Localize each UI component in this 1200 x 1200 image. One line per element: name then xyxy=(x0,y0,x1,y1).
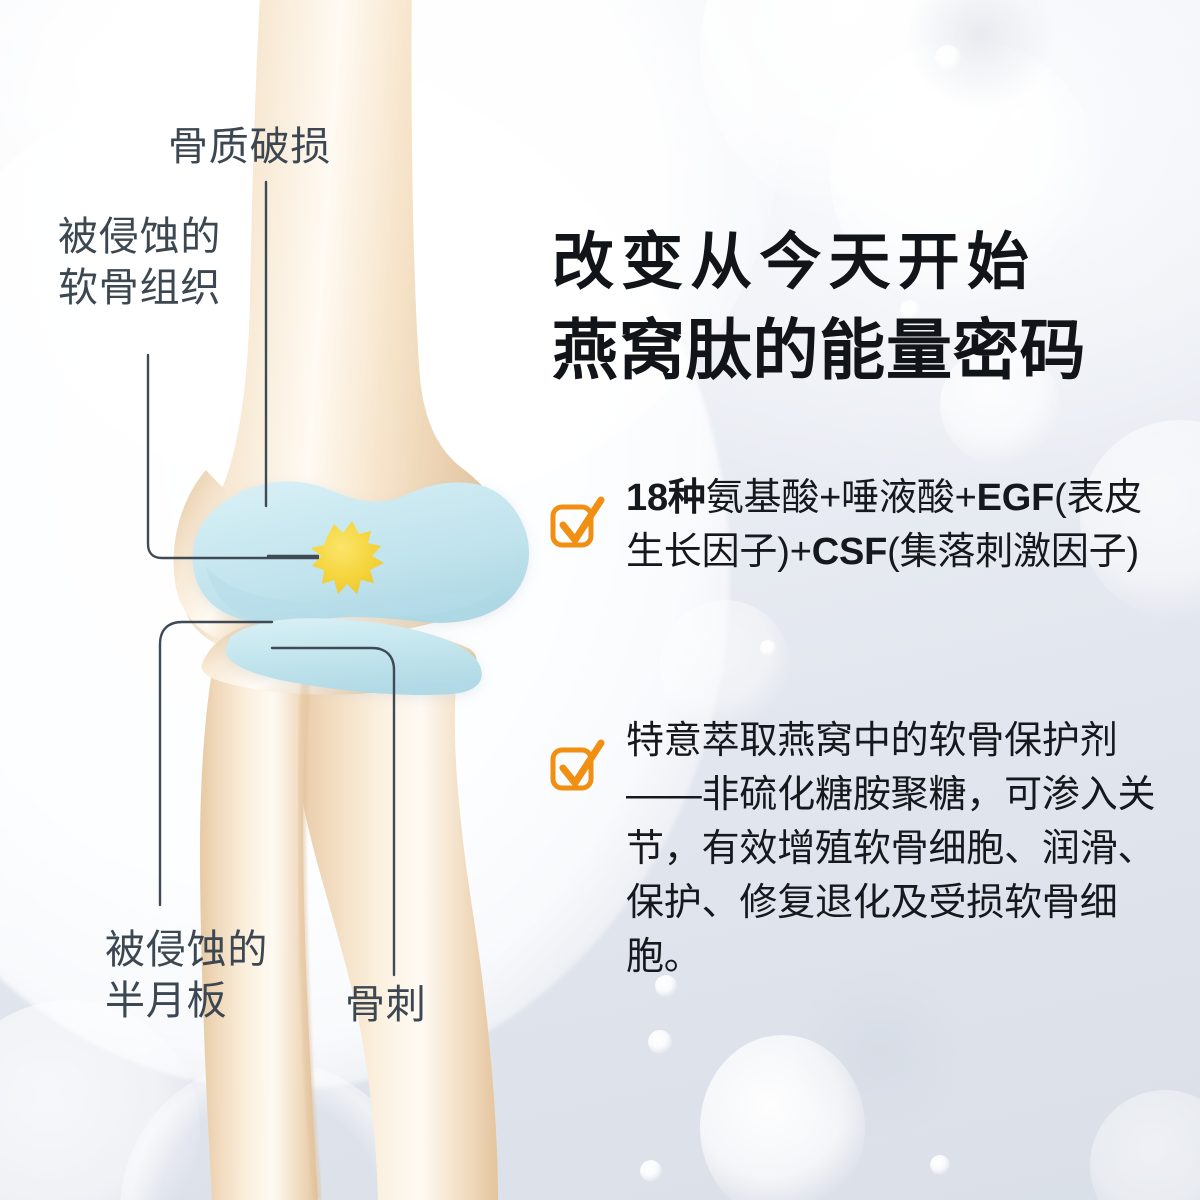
feature-bullet-2-text: 特意萃取燕窝中的软骨保护剂——非硫化糖胺聚糖，可渗入关节，有效增殖软骨细胞、润滑… xyxy=(626,715,1174,985)
content-column: 改变从今天开始 燕窝肽的能量密码 18种氨基酸+唾液酸+EGF(表皮生长因子)+… xyxy=(548,0,1188,1200)
poster-canvas: 骨质破损 被侵蚀的 软骨组织 被侵蚀的 半月板 骨刺 改变从今天开始 燕窝肽的能… xyxy=(0,0,1200,1200)
headline-line-2: 燕窝肽的能量密码 xyxy=(552,297,1086,393)
check-box-icon-wrap xyxy=(548,494,606,552)
label-eroded-meniscus: 被侵蚀的 半月板 xyxy=(105,925,268,1027)
feature-bullet-1-text: 18种氨基酸+唾液酸+EGF(表皮生长因子)+CSF(集落刺激因子) xyxy=(626,472,1174,580)
label-bone-damage: 骨质破损 xyxy=(168,122,331,173)
feature-bullet-1: 18种氨基酸+唾液酸+EGF(表皮生长因子)+CSF(集落刺激因子) xyxy=(548,472,1188,580)
orange-check-box-icon xyxy=(548,737,606,795)
label-eroded-cartilage: 被侵蚀的 软骨组织 xyxy=(58,212,221,314)
label-bone-spur: 骨刺 xyxy=(345,980,427,1031)
check-box-icon-wrap xyxy=(548,737,606,795)
feature-bullet-2: 特意萃取燕窝中的软骨保护剂——非硫化糖胺聚糖，可渗入关节，有效增殖软骨细胞、润滑… xyxy=(548,715,1188,985)
knee-joint-diagram xyxy=(0,0,620,1200)
orange-check-box-icon xyxy=(548,494,606,552)
tibia-bone xyxy=(295,642,498,1200)
headline-line-1: 改变从今天开始 xyxy=(552,211,1036,301)
